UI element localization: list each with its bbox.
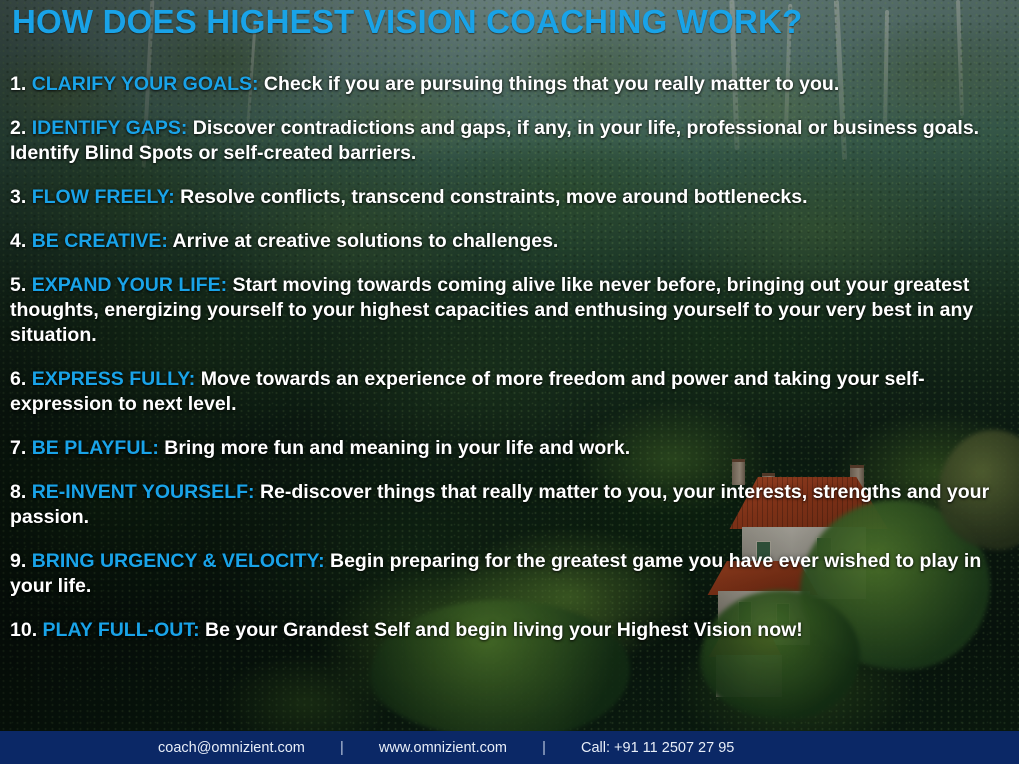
footer-website-link[interactable]: www.omnizient.com [379,740,507,756]
step-number: 8. [10,481,26,503]
footer-phone: Call: +91 11 2507 27 95 [581,740,734,756]
step-body: Arrive at creative solutions to challeng… [173,230,559,252]
step-number: 6. [10,368,26,390]
step-number: 1. [10,73,26,95]
step-heading: BE CREATIVE: [32,230,168,252]
poster-canvas: HOW DOES HIGHEST VISION COACHING WORK? 1… [0,0,1019,764]
step-heading: EXPRESS FULLY: [32,368,196,390]
step-heading: PLAY FULL-OUT: [43,619,200,641]
step-number: 9. [10,550,26,572]
step-body: Check if you are pursuing things that yo… [264,73,839,95]
list-item: 3. FLOW FREELY: Resolve conflicts, trans… [10,185,1010,210]
list-item: 6. EXPRESS FULLY: Move towards an experi… [10,367,1010,417]
list-item: 1. CLARIFY YOUR GOALS: Check if you are … [10,72,1010,97]
step-heading: BRING URGENCY & VELOCITY: [32,550,325,572]
step-heading: RE-INVENT YOURSELF: [32,481,255,503]
list-item: 10. PLAY FULL-OUT: Be your Grandest Self… [10,618,1010,643]
step-number: 2. [10,117,26,139]
step-number: 4. [10,230,26,252]
list-item: 7. BE PLAYFUL: Bring more fun and meanin… [10,436,1010,461]
list-item: 8. RE-INVENT YOURSELF: Re-discover thing… [10,480,1010,530]
list-item: 2. IDENTIFY GAPS: Discover contradiction… [10,116,1010,166]
poster-content: HOW DOES HIGHEST VISION COACHING WORK? 1… [0,0,1019,764]
list-item: 9. BRING URGENCY & VELOCITY: Begin prepa… [10,549,1010,599]
steps-list: 1. CLARIFY YOUR GOALS: Check if you are … [10,72,1010,662]
footer-email-link[interactable]: coach@omnizient.com [158,740,305,756]
step-body: Be your Grandest Self and begin living y… [205,619,803,641]
step-body: Bring more fun and meaning in your life … [164,437,630,459]
step-heading: CLARIFY YOUR GOALS: [32,73,259,95]
step-number: 3. [10,186,26,208]
footer-separator-2: | [507,740,581,756]
footer-contact-row: coach@omnizient.com | www.omnizient.com … [158,740,734,756]
step-heading: BE PLAYFUL: [32,437,159,459]
step-number: 5. [10,274,26,296]
step-body: Resolve conflicts, transcend constraints… [180,186,807,208]
list-item: 5. EXPAND YOUR LIFE: Start moving toward… [10,273,1010,348]
page-title: HOW DOES HIGHEST VISION COACHING WORK? [12,3,802,41]
list-item: 4. BE CREATIVE: Arrive at creative solut… [10,229,1010,254]
footer-contact-bar: coach@omnizient.com | www.omnizient.com … [0,731,1019,764]
step-heading: IDENTIFY GAPS: [32,117,188,139]
step-number: 7. [10,437,26,459]
step-heading: FLOW FREELY: [32,186,175,208]
step-heading: EXPAND YOUR LIFE: [32,274,227,296]
footer-separator-1: | [305,740,379,756]
step-number: 10. [10,619,37,641]
